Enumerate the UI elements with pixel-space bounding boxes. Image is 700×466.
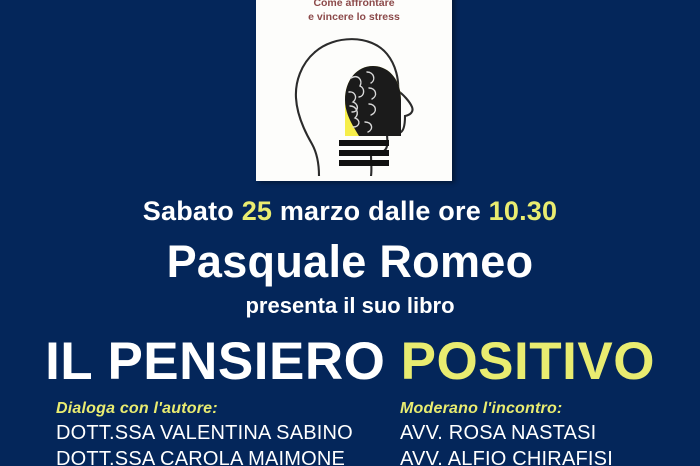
date-day: 25 [242, 196, 272, 226]
credits-column-moderators: Moderano l'incontro: AVV. ROSA NASTASI A… [356, 398, 700, 466]
credits-name: DOTT.SSA CAROLA MAIMONE [56, 446, 356, 466]
time-prefix: dalle ore [368, 196, 481, 226]
event-time: 10.30 [489, 196, 558, 226]
book-cover-image: POSITIVO Come affrontare e vincere lo st… [256, 0, 452, 181]
book-title-part-1: IL PENSIERO [45, 332, 385, 391]
credits-section: Dialoga con l'autore: DOTT.SSA VALENTINA… [0, 398, 700, 466]
book-cover-subtitle-line-1: Come affrontare [256, 0, 452, 10]
date-prefix: Sabato [143, 196, 234, 226]
date-month: marzo [280, 196, 361, 226]
credits-name: DOTT.SSA VALENTINA SABINO [56, 420, 356, 446]
event-poster: POSITIVO Come affrontare e vincere lo st… [0, 0, 700, 466]
credits-name: AVV. ROSA NASTASI [400, 420, 700, 446]
head-brain-lightbulb-icon [279, 36, 429, 176]
presents-label: presenta il suo libro [0, 293, 700, 319]
credits-heading-dialogue: Dialoga con l'autore: [56, 398, 356, 420]
credits-name: AVV. ALFIO CHIRAFISI [400, 446, 700, 466]
speaker-name: Pasquale Romeo [0, 236, 700, 288]
event-date-line: Sabato 25 marzo dalle ore 10.30 [0, 196, 700, 227]
book-cover-subtitle-line-2: e vincere lo stress [256, 10, 452, 24]
credits-column-dialogue: Dialoga con l'autore: DOTT.SSA VALENTINA… [0, 398, 356, 466]
credits-heading-moderators: Moderano l'incontro: [400, 398, 700, 420]
book-title-headline: IL PENSIERO POSITIVO [0, 331, 700, 392]
book-cover-subtitle: Come affrontare e vincere lo stress [256, 0, 452, 24]
book-title-part-2: POSITIVO [401, 332, 655, 391]
